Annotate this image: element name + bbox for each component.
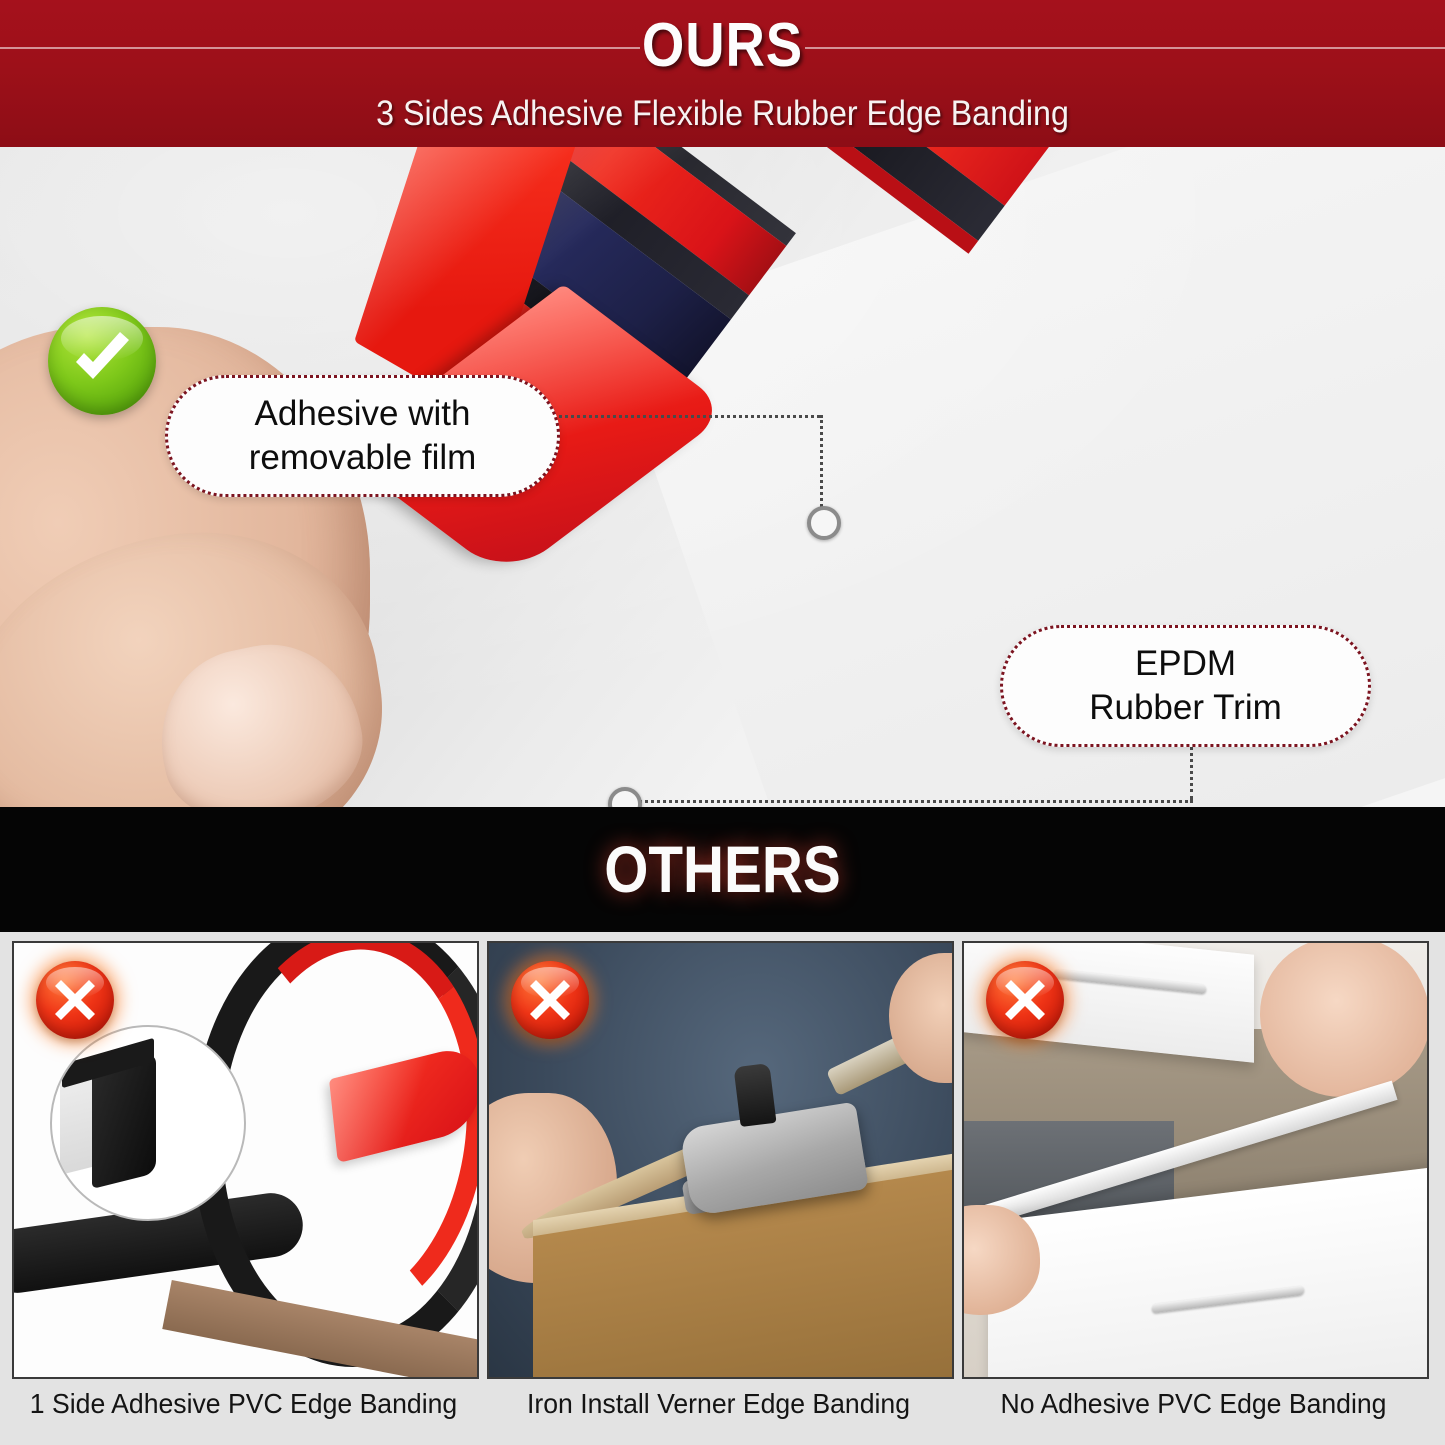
iron-knob [733,1063,776,1127]
callout-epdm-line2: Rubber Trim [1023,686,1348,730]
profile-detail-inset [50,1025,246,1221]
panel-pvc-1-side [12,941,479,1379]
ours-product-photo: Adhesive with removable film EPDM Rubber… [0,147,1445,807]
ours-title: OURS [87,2,1359,90]
leader-epdm-horizontal [634,800,1193,803]
others-banner: OTHERS [0,807,1445,932]
red-x-icon [36,961,114,1039]
panel-iron-veneer [487,941,954,1379]
callout-adhesive-line2: removable film [190,436,535,480]
callout-epdm-line1: EPDM [1023,642,1348,686]
comparison-infographic: OURS 3 Sides Adhesive Flexible Rubber Ed… [0,0,1445,1445]
callout-adhesive: Adhesive with removable film [165,375,560,497]
others-panel-row: 1 Side Adhesive PVC Edge Banding Iron In… [0,932,1445,1445]
others-title: OTHERS [101,821,1344,917]
ours-banner: OURS 3 Sides Adhesive Flexible Rubber Ed… [0,0,1445,147]
panel-pvc-no-adhesive [962,941,1429,1379]
leader-adhesive-vertical [820,415,823,519]
leader-adhesive-horizontal [530,415,820,418]
panel-caption-pvc-1-side: 1 Side Adhesive PVC Edge Banding [24,1384,464,1424]
marker-adhesive [807,506,841,540]
green-check-icon [48,307,156,415]
callout-adhesive-line1: Adhesive with [190,392,535,436]
ours-subtitle: 3 Sides Adhesive Flexible Rubber Edge Ba… [58,92,1387,136]
red-x-icon [511,961,589,1039]
panel-caption-pvc-no-adhesive: No Adhesive PVC Edge Banding [974,1384,1414,1424]
callout-epdm: EPDM Rubber Trim [1000,625,1371,747]
red-x-icon [986,961,1064,1039]
panel-caption-iron-veneer: Iron Install Verner Edge Banding [499,1384,939,1424]
right-hand [1260,941,1429,1097]
